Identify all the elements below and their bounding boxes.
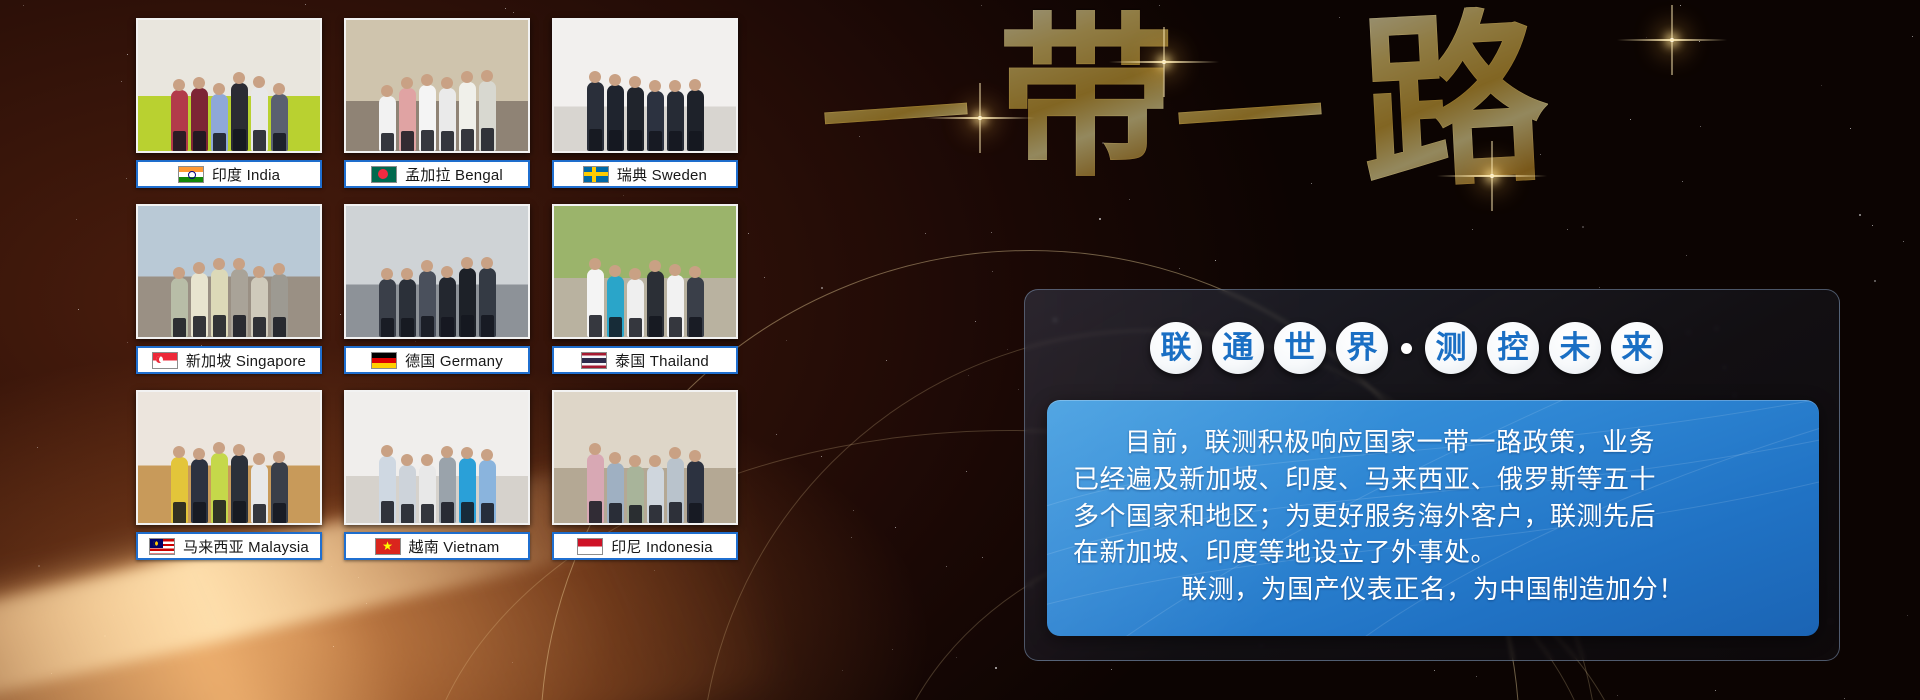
slogan-char-1: 联 <box>1150 322 1202 374</box>
description-box: 目前，联测积极响应国家一带一路政策，业务 已经遍及新加坡、印度、马来西亚、俄罗斯… <box>1047 400 1819 636</box>
headline-calligraphy: 一 带 一 路 <box>830 4 1910 219</box>
photo-thailand[interactable] <box>552 204 738 339</box>
country-label: 瑞典 Sweden <box>617 164 707 185</box>
slogan-char-2: 通 <box>1212 322 1264 374</box>
headline-char-3: 一 <box>1171 61 1329 175</box>
country-caption[interactable]: 新加坡 Singapore <box>136 346 322 374</box>
gallery-item[interactable]: 印度 India <box>136 18 322 196</box>
headline-char-4: 路 <box>1355 3 1553 201</box>
banner-stage: 印度 India 孟加拉 Bengal 瑞典 Sweden 新加坡 Singap… <box>0 0 1920 700</box>
description-line-3: 多个国家和地区；为更好服务海外客户，联测先后 <box>1073 499 1793 536</box>
slogan-char-6: 控 <box>1487 322 1539 374</box>
country-label: 新加坡 Singapore <box>186 350 306 371</box>
country-caption[interactable]: 瑞典 Sweden <box>552 160 738 188</box>
flag-sweden-icon <box>583 166 609 183</box>
country-caption[interactable]: 泰国 Thailand <box>552 346 738 374</box>
photo-malaysia[interactable] <box>136 390 322 525</box>
slogan-char-5: 测 <box>1425 322 1477 374</box>
slogan-char-8: 来 <box>1611 322 1663 374</box>
gallery-item[interactable]: 越南 Vietnam <box>344 390 530 568</box>
description-line-5: 联测，为国产仪表正名，为中国制造加分！ <box>1073 572 1793 609</box>
description-line-1: 目前，联测积极响应国家一带一路政策，业务 <box>1073 425 1793 462</box>
sparkle-icon <box>1162 60 1166 64</box>
country-caption[interactable]: 越南 Vietnam <box>344 532 530 560</box>
gallery-item[interactable]: 泰国 Thailand <box>552 204 738 382</box>
flag-germany-icon <box>371 352 397 369</box>
gallery-item[interactable]: 印尼 Indonesia <box>552 390 738 568</box>
slogan-char-3: 世 <box>1274 322 1326 374</box>
country-gallery-grid: 印度 India 孟加拉 Bengal 瑞典 Sweden 新加坡 Singap… <box>136 18 752 583</box>
slogan-separator-dot <box>1401 343 1412 354</box>
sparkle-icon <box>1670 38 1674 42</box>
headline-char-2: 带 <box>998 10 1174 186</box>
description-line-4: 在新加坡、印度等地设立了外事处。 <box>1073 535 1793 572</box>
gallery-item[interactable]: 孟加拉 Bengal <box>344 18 530 196</box>
slogan-char-7: 未 <box>1549 322 1601 374</box>
photo-india[interactable] <box>136 18 322 153</box>
gallery-item[interactable]: 德国 Germany <box>344 204 530 382</box>
photo-sweden[interactable] <box>552 18 738 153</box>
country-caption[interactable]: 印尼 Indonesia <box>552 532 738 560</box>
flag-singapore-icon <box>152 352 178 369</box>
gallery-item[interactable]: 瑞典 Sweden <box>552 18 738 196</box>
country-label: 印度 India <box>212 164 280 185</box>
photo-germany[interactable] <box>344 204 530 339</box>
country-label: 泰国 Thailand <box>615 350 709 371</box>
gallery-item[interactable]: 新加坡 Singapore <box>136 204 322 382</box>
country-caption[interactable]: 孟加拉 Bengal <box>344 160 530 188</box>
flag-india-icon <box>178 166 204 183</box>
photo-singapore[interactable] <box>136 204 322 339</box>
country-label: 马来西亚 Malaysia <box>183 536 309 557</box>
country-label: 印尼 Indonesia <box>611 536 713 557</box>
country-label: 德国 Germany <box>405 350 503 371</box>
slogan-char-4: 界 <box>1336 322 1388 374</box>
sparkle-icon <box>978 116 982 120</box>
country-label: 孟加拉 Bengal <box>405 164 503 185</box>
flag-bangladesh-icon <box>371 166 397 183</box>
photo-bengal[interactable] <box>344 18 530 153</box>
photo-indonesia[interactable] <box>552 390 738 525</box>
flag-malaysia-icon <box>149 538 175 555</box>
flag-indonesia-icon <box>577 538 603 555</box>
description-line-2: 已经遍及新加坡、印度、马来西亚、俄罗斯等五十 <box>1073 462 1793 499</box>
headline-char-1: 一 <box>817 61 975 175</box>
sparkle-icon <box>1490 174 1494 178</box>
country-caption[interactable]: 印度 India <box>136 160 322 188</box>
country-caption[interactable]: 马来西亚 Malaysia <box>136 532 322 560</box>
photo-vietnam[interactable] <box>344 390 530 525</box>
country-label: 越南 Vietnam <box>409 536 500 557</box>
slogan-row: 联 通 世 界 测 控 未 来 <box>1150 322 1663 374</box>
flag-thailand-icon <box>581 352 607 369</box>
country-caption[interactable]: 德国 Germany <box>344 346 530 374</box>
gallery-item[interactable]: 马来西亚 Malaysia <box>136 390 322 568</box>
flag-vietnam-icon <box>375 538 401 555</box>
